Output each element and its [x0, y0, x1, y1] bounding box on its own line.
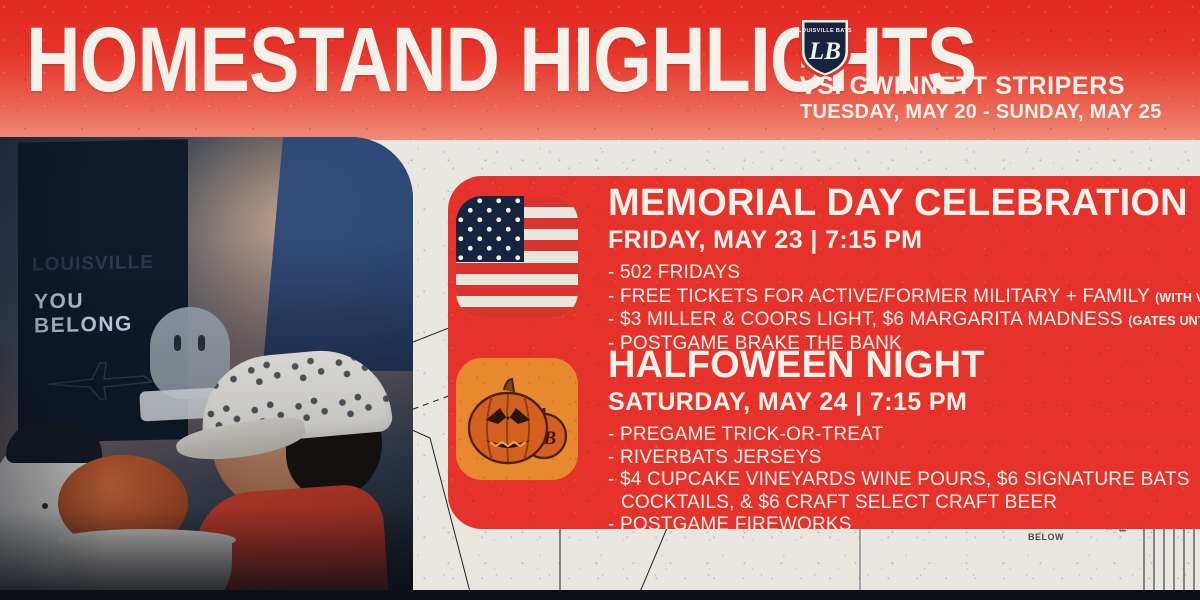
list-item: - RIVERBATS JERSEYS — [608, 447, 1186, 470]
bottom-strip — [0, 590, 1200, 600]
list-item: - $4 CUPCAKE VINEYARDS WINE POURS, $6 SI… — [608, 469, 1186, 492]
event-date: SATURDAY, MAY 24 | 7:15 PM — [608, 387, 1186, 417]
matchup-info: VS. GWINNETT STRIPERS TUESDAY, MAY 20 - … — [800, 72, 1192, 124]
louisville-bats-shield-icon: LOUISVILLE BATS LB — [796, 16, 854, 80]
photo-vignette — [0, 137, 413, 590]
svg-text:LOUISVILLE BATS: LOUISVILLE BATS — [798, 28, 852, 34]
homestand-dates: TUESDAY, MAY 20 - SUNDAY, MAY 25 — [800, 100, 1192, 124]
poster-header: HOMESTAND HIGHLIGHTS LOUISVILLE BATS LB … — [0, 0, 1200, 140]
bullet-note: (GATES UNTIL 8TH) — [1128, 314, 1200, 328]
event-title: MEMORIAL DAY CELEBRATION — [608, 182, 1186, 224]
event-photo: LOUISVILLE YOU BELONG — [0, 137, 413, 590]
list-item: - FREE TICKETS FOR ACTIVE/FORMER MILITAR… — [608, 286, 1186, 310]
homestand-highlights-poster: BELOW PERIMETER ROOF 02 HOMESTAND HIGHLI… — [0, 0, 1200, 600]
opponent-label: VS. GWINNETT STRIPERS — [800, 72, 1192, 100]
event-date: FRIDAY, MAY 23 | 7:15 PM — [608, 225, 1186, 255]
list-item: COCKTAILS, & $6 CRAFT SELECT CRAFT BEER — [608, 492, 1186, 515]
list-item: - 502 FRIDAYS — [608, 262, 1186, 286]
list-item: - POSTGAME FIREWORKS — [608, 514, 1186, 529]
event-title: HALFOWEEN NIGHT — [608, 344, 1186, 386]
usa-flag-icon — [456, 196, 578, 318]
event-bullet-list: - PREGAME TRICK-OR-TREAT - RIVERBATS JER… — [608, 424, 1186, 529]
blueprint-label-below: BELOW — [1028, 532, 1064, 542]
events-card: MEMORIAL DAY CELEBRATION FRIDAY, MAY 23 … — [448, 176, 1200, 529]
event-bullet-list: - 502 FRIDAYS - FREE TICKETS FOR ACTIVE/… — [608, 262, 1186, 356]
memorial-day-text: MEMORIAL DAY CELEBRATION FRIDAY, MAY 23 … — [608, 182, 1186, 356]
list-item: - $3 MILLER & COORS LIGHT, $6 MARGARITA … — [608, 309, 1186, 333]
list-item: - PREGAME TRICK-OR-TREAT — [608, 424, 1186, 447]
bullet-note: (WITH VAILD ID) — [1155, 291, 1200, 305]
jack-o-lantern-icon: LB — [456, 358, 578, 480]
svg-text:LB: LB — [808, 38, 841, 65]
flag-canton — [456, 196, 524, 262]
flag-stars — [456, 196, 524, 262]
halfoween-text: HALFOWEEN NIGHT SATURDAY, MAY 24 | 7:15 … — [608, 344, 1186, 529]
